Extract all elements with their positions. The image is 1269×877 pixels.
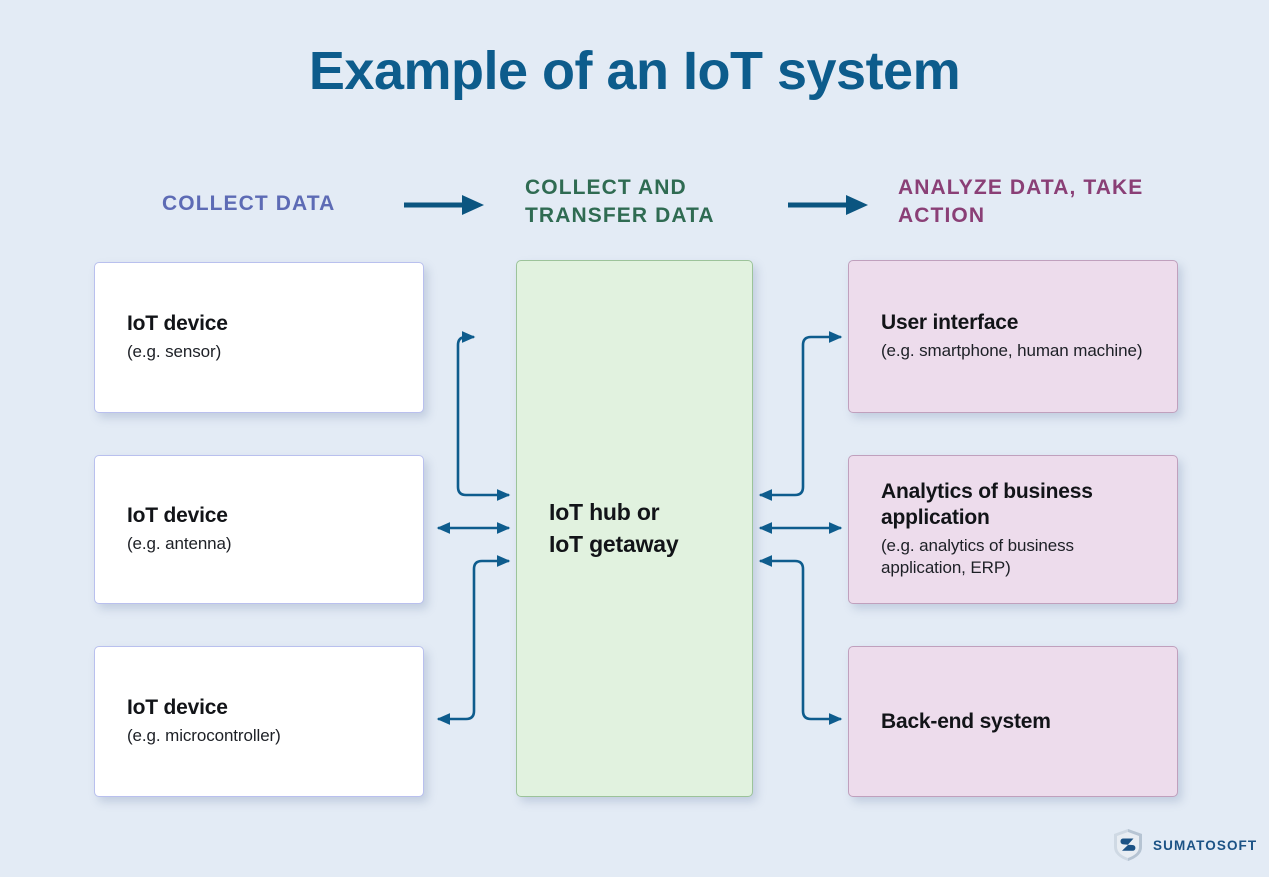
node-iot-device-antenna[interactable]: IoT device (e.g. antenna) — [94, 455, 424, 604]
node-title: IoT device — [127, 503, 391, 529]
header-arrow-right-2-icon — [786, 190, 876, 220]
page-title: Example of an IoT system — [0, 42, 1269, 101]
node-back-end-system[interactable]: Back-end system — [848, 646, 1178, 797]
node-subtitle: (e.g. microcontroller) — [127, 725, 391, 748]
connector-hub-to-output-1 — [760, 337, 841, 495]
node-title: Analytics of business application — [881, 479, 1145, 530]
node-subtitle: (e.g. smartphone, human machine) — [881, 340, 1145, 363]
node-subtitle: (e.g. sensor) — [127, 341, 391, 364]
connector-hub-to-output-3 — [760, 561, 841, 719]
node-title: Back-end system — [881, 709, 1145, 735]
node-analytics-of-business-application[interactable]: Analytics of business application (e.g. … — [848, 455, 1178, 604]
node-title-line-2: IoT getaway — [549, 529, 720, 561]
column-header-analyze-data-take-action: ANALYZE DATA, TAKE ACTION — [898, 174, 1158, 229]
column-header-collect-data: COLLECT DATA — [162, 190, 335, 218]
node-iot-device-sensor[interactable]: IoT device (e.g. sensor) — [94, 262, 424, 413]
diagram-canvas: Example of an IoT system COLLECT DATA CO… — [0, 0, 1269, 877]
node-subtitle: (e.g. analytics of business application,… — [881, 535, 1145, 580]
node-title-line-1: IoT hub or — [549, 497, 720, 529]
node-subtitle: (e.g. antenna) — [127, 533, 391, 556]
node-title: IoT device — [127, 695, 391, 721]
connector-device-3-to-hub — [438, 561, 509, 719]
node-iot-device-microcontroller[interactable]: IoT device (e.g. microcontroller) — [94, 646, 424, 797]
connector-device-1-to-hub — [458, 337, 509, 495]
node-title: User interface — [881, 310, 1145, 336]
sumatosoft-shield-icon — [1112, 828, 1144, 862]
node-iot-hub-or-getaway[interactable]: IoT hub or IoT getaway — [516, 260, 753, 797]
column-header-collect-and-transfer-data: COLLECT AND TRANSFER DATA — [525, 174, 775, 229]
node-title: IoT device — [127, 311, 391, 337]
header-arrow-right-1-icon — [402, 190, 492, 220]
node-user-interface[interactable]: User interface (e.g. smartphone, human m… — [848, 260, 1178, 413]
sumatosoft-logo: SUMATOSOFT — [1112, 828, 1257, 862]
logo-text: SUMATOSOFT — [1153, 838, 1257, 853]
